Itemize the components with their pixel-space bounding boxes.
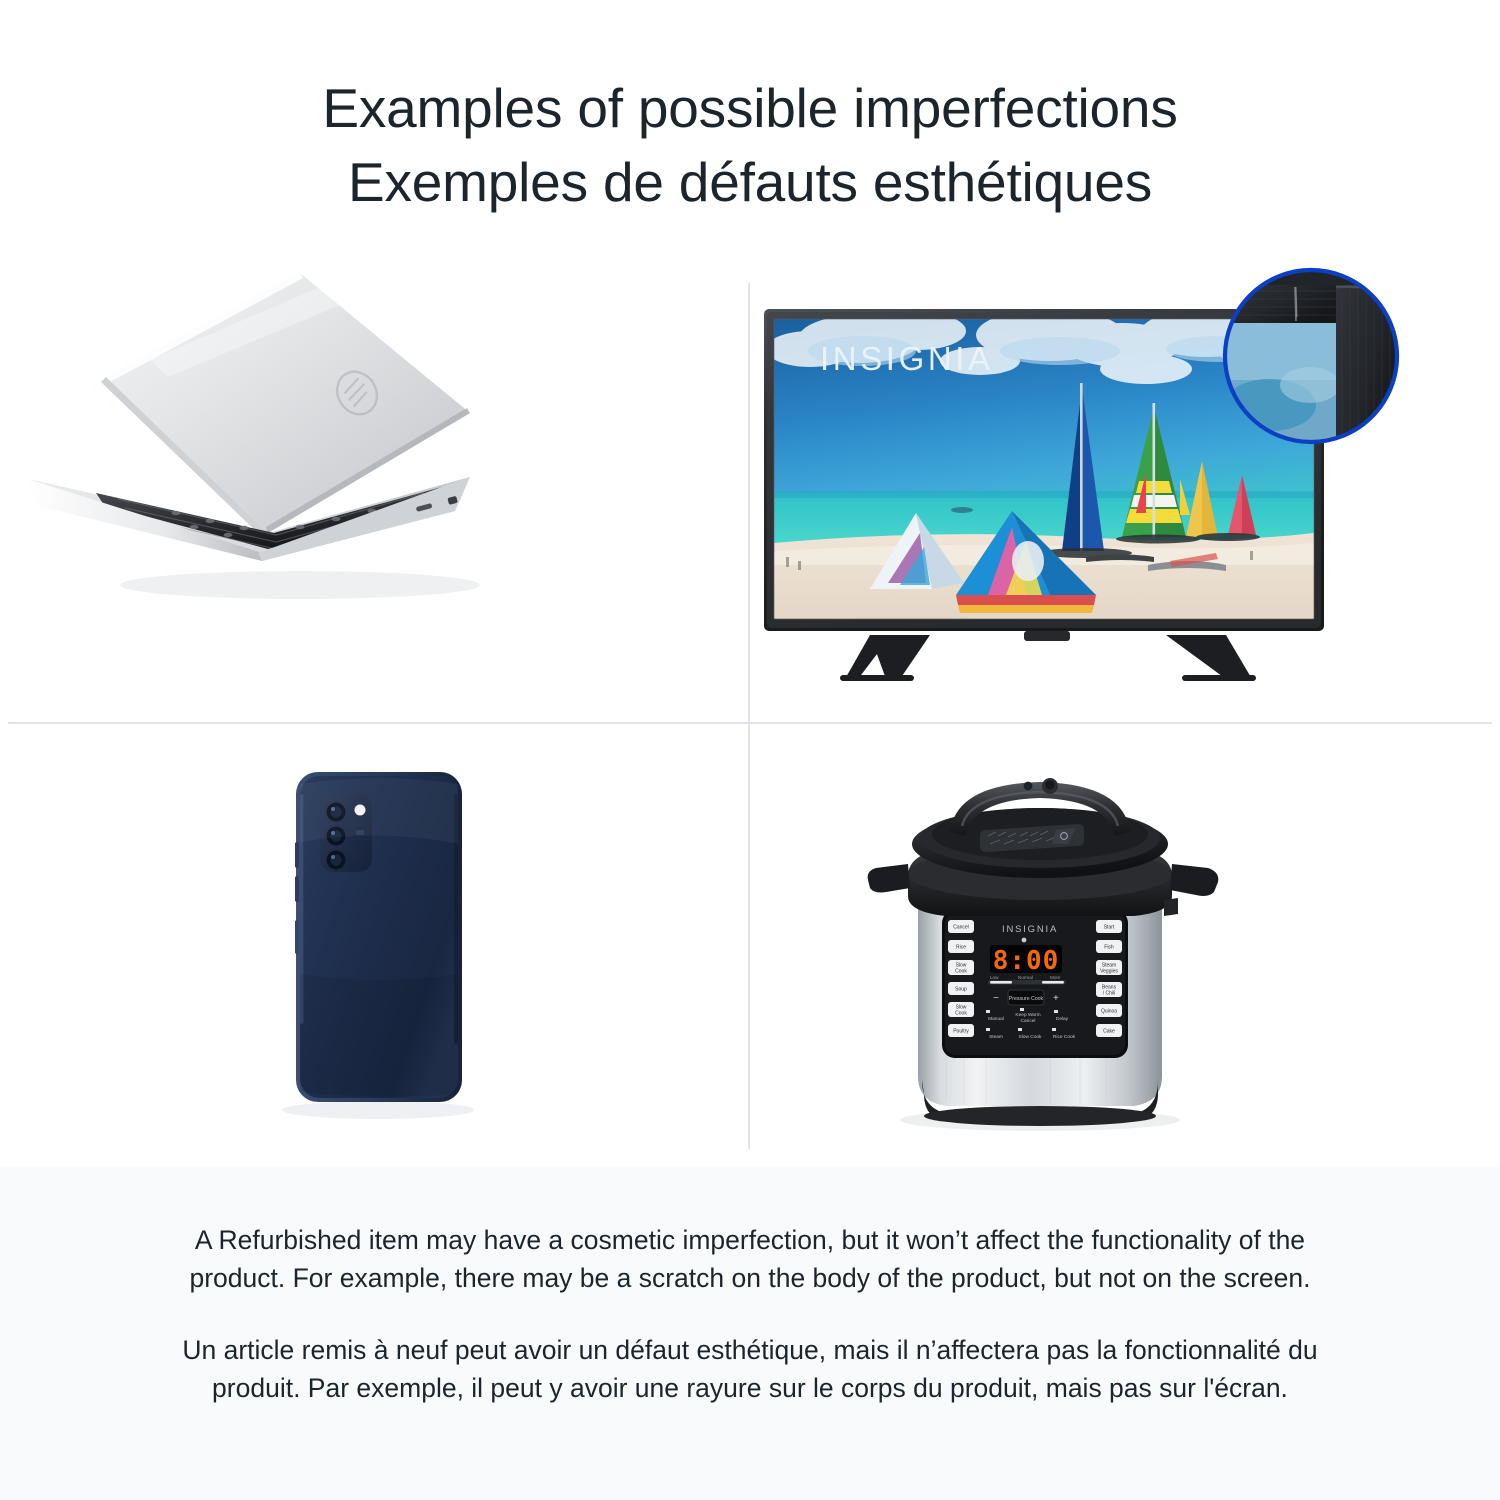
- footer-description: A Refurbished item may have a cosmetic i…: [0, 1166, 1500, 1500]
- svg-text:Cancel: Cancel: [953, 925, 969, 931]
- tv-illustration: INSIGNIA: [750, 265, 1500, 722]
- svg-text:Soup: Soup: [955, 987, 967, 993]
- phone-illustration: [0, 724, 748, 1166]
- pressure-cooker-illustration: INSIGNIA 8:00 Low Normal More Pressure C…: [750, 724, 1500, 1166]
- phone-power-button: [295, 920, 299, 954]
- cooker-handle-right: [1170, 864, 1218, 896]
- svg-text:Manual: Manual: [988, 1016, 1004, 1022]
- svg-text:+: +: [1053, 993, 1059, 1004]
- svg-text:Steam: Steam: [989, 1034, 1003, 1040]
- svg-text:Keep Warm: Keep Warm: [1015, 1012, 1040, 1018]
- panel-tv: INSIGNIA: [750, 265, 1500, 722]
- svg-text:Fish: Fish: [1104, 945, 1114, 951]
- svg-text:Delay: Delay: [1056, 1016, 1069, 1022]
- tv-logo-bump: [1024, 631, 1070, 641]
- cooker-release-tab: [1164, 898, 1178, 916]
- laptop-illustration: [0, 265, 748, 722]
- svg-text:Pressure Cook: Pressure Cook: [1009, 996, 1044, 1002]
- cooker-handle-left: [868, 864, 910, 893]
- page-title-fr: Exemples de défauts esthétiques: [348, 146, 1152, 220]
- svg-text:Cook: Cook: [955, 1011, 967, 1017]
- svg-text:Quinoa: Quinoa: [1101, 1009, 1117, 1015]
- description-fr: Un article remis à neuf peut avoir un dé…: [180, 1332, 1320, 1408]
- svg-text:Rice Cook: Rice Cook: [1053, 1034, 1076, 1040]
- svg-text:Normal: Normal: [1018, 975, 1033, 980]
- svg-text:Cook: Cook: [955, 969, 967, 975]
- svg-text:Cake: Cake: [1103, 1029, 1115, 1035]
- description-en: A Refurbished item may have a cosmetic i…: [180, 1222, 1320, 1298]
- cooker-display-value: 8:00: [993, 946, 1060, 976]
- svg-text:Rice: Rice: [956, 945, 966, 951]
- panel-pressure-cooker: INSIGNIA 8:00 Low Normal More Pressure C…: [750, 724, 1500, 1166]
- refurbished-imperfections-infographic: Examples of possible imperfections Exemp…: [0, 0, 1500, 1500]
- svg-text:/ Chili: / Chili: [1103, 991, 1116, 997]
- cooker-float-valve: [1024, 782, 1033, 791]
- svg-text:More: More: [1050, 975, 1061, 980]
- svg-text:Poultry: Poultry: [953, 1029, 969, 1035]
- page-title-en: Examples of possible imperfections: [322, 72, 1177, 146]
- svg-text:Veggies: Veggies: [1100, 969, 1118, 975]
- tv-stand-left: [840, 635, 930, 681]
- phone-volume-down-button: [295, 876, 299, 902]
- phone-volume-button: [295, 842, 299, 868]
- panel-laptop: [0, 265, 748, 722]
- panel-phone: [0, 724, 748, 1166]
- cooker-brand-text: INSIGNIA: [1002, 924, 1058, 935]
- svg-text:−: −: [993, 993, 999, 1004]
- page-header: Examples of possible imperfections Exemp…: [0, 0, 1500, 265]
- examples-grid: INSIGNIA: [0, 265, 1500, 1166]
- svg-text:Low: Low: [990, 975, 999, 980]
- svg-text:Cancel: Cancel: [1021, 1018, 1036, 1024]
- svg-text:Slow Cook: Slow Cook: [1019, 1034, 1043, 1040]
- svg-text:Start: Start: [1104, 925, 1115, 931]
- tv-screen-brand-text: INSIGNIA: [820, 340, 994, 377]
- tv-stand-right: [1166, 635, 1256, 681]
